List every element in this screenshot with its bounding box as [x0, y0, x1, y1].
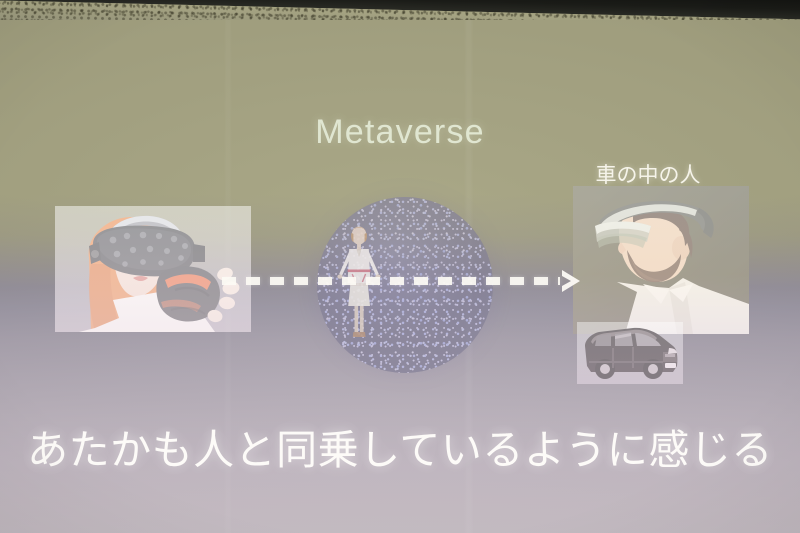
photo-woman-with-vr-headset [55, 206, 251, 332]
photo-man-with-ar-headset [573, 186, 749, 334]
arrow-head-icon [556, 266, 586, 296]
dashed-arrow-line [222, 277, 560, 285]
screenshot-stage: Metaverse [0, 0, 800, 533]
slide-title: Metaverse [0, 113, 800, 152]
slide-caption: あたかも人と同乗しているように感じる [0, 416, 800, 476]
label-person-in-car: 車の中の人 [0, 159, 800, 189]
label-person-in-car-text: 車の中の人 [596, 164, 701, 187]
graphic-black-boxy-kei-car [577, 322, 683, 384]
